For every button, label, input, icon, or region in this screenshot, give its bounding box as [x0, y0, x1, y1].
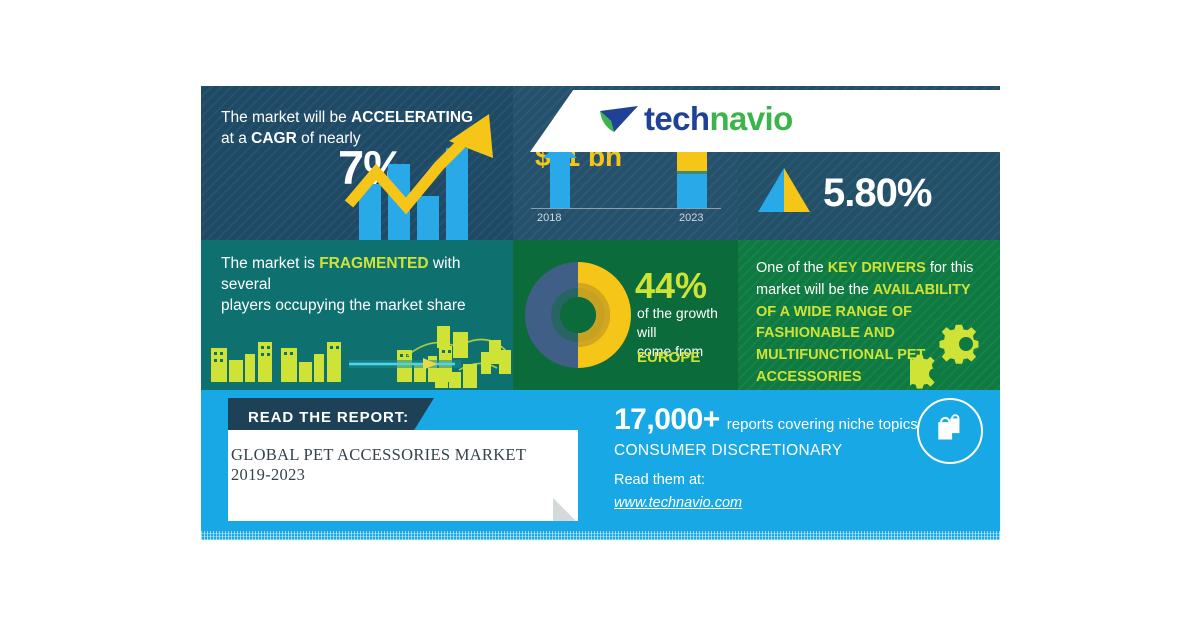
- read-the-report-label: READ THE REPORT:: [248, 409, 409, 426]
- technavio-wordmark: technavio: [644, 100, 793, 138]
- infographic-canvas: The market will be ACCELERATING at a CAG…: [0, 0, 1200, 627]
- drv-text-b: for this: [926, 260, 974, 276]
- yoy-value: 5.80%: [823, 166, 931, 220]
- footer-dither-edge: [201, 531, 1000, 540]
- frag-text-a: The market is: [221, 255, 319, 272]
- frag-text-c: players occupying the market share: [221, 297, 466, 314]
- fragmented-statement: The market is FRAGMENTED with several pl…: [221, 254, 506, 317]
- page-fold-corner-icon: [553, 498, 576, 521]
- panel-cagr: The market will be ACCELERATING at a CAG…: [201, 86, 513, 240]
- panel-key-drivers: One of the KEY DRIVERS for this market w…: [738, 240, 1000, 390]
- reports-count: 17,000+: [614, 403, 720, 436]
- technavio-logo: technavio: [598, 96, 793, 142]
- growth-arrow-bar-chart-icon: [201, 86, 513, 240]
- drv-text-key-drivers: KEY DRIVERS: [828, 260, 926, 276]
- incremental-year-start: 2018: [537, 212, 561, 224]
- axis-line: [531, 208, 721, 209]
- panel-europe-share: 44% of the growth will come from EUROPE: [513, 240, 738, 390]
- shopping-bags-icon: [917, 398, 983, 464]
- frag-text-fragmented: FRAGMENTED: [319, 255, 428, 272]
- panel-fragmented: The market is FRAGMENTED with several pl…: [201, 240, 513, 390]
- report-title: GLOBAL PET ACCESSORIES MARKET 2019-2023: [231, 445, 561, 485]
- europe-region-label: EUROPE: [637, 348, 700, 368]
- panel-footer: READ THE REPORT: GLOBAL PET ACCESSORIES …: [201, 390, 1000, 540]
- technavio-arrow-icon: [598, 102, 642, 136]
- drv-text-c: market will be the: [756, 282, 873, 298]
- reports-count-row: 17,000+reports covering niche topics: [614, 403, 944, 437]
- reports-count-label: reports covering niche topics: [727, 416, 918, 433]
- donut-chart-icon: [525, 262, 631, 368]
- logo-text-tech: tech: [644, 100, 709, 137]
- read-them-at-label: Read them at:: [614, 472, 705, 488]
- technavio-url-link[interactable]: www.technavio.com: [614, 495, 742, 511]
- up-trend-arrow-icon: [201, 86, 513, 240]
- triangle-up-icon: [758, 168, 810, 212]
- city-buildings-icon: [201, 318, 513, 390]
- donut-sub-line1: of the growth will: [637, 305, 718, 340]
- logo-text-navio: navio: [709, 100, 792, 137]
- drv-text-a: One of the: [756, 260, 828, 276]
- incremental-year-end: 2023: [679, 212, 703, 224]
- report-category: CONSUMER DISCRETIONARY: [614, 442, 843, 460]
- gears-icon: [910, 320, 1000, 390]
